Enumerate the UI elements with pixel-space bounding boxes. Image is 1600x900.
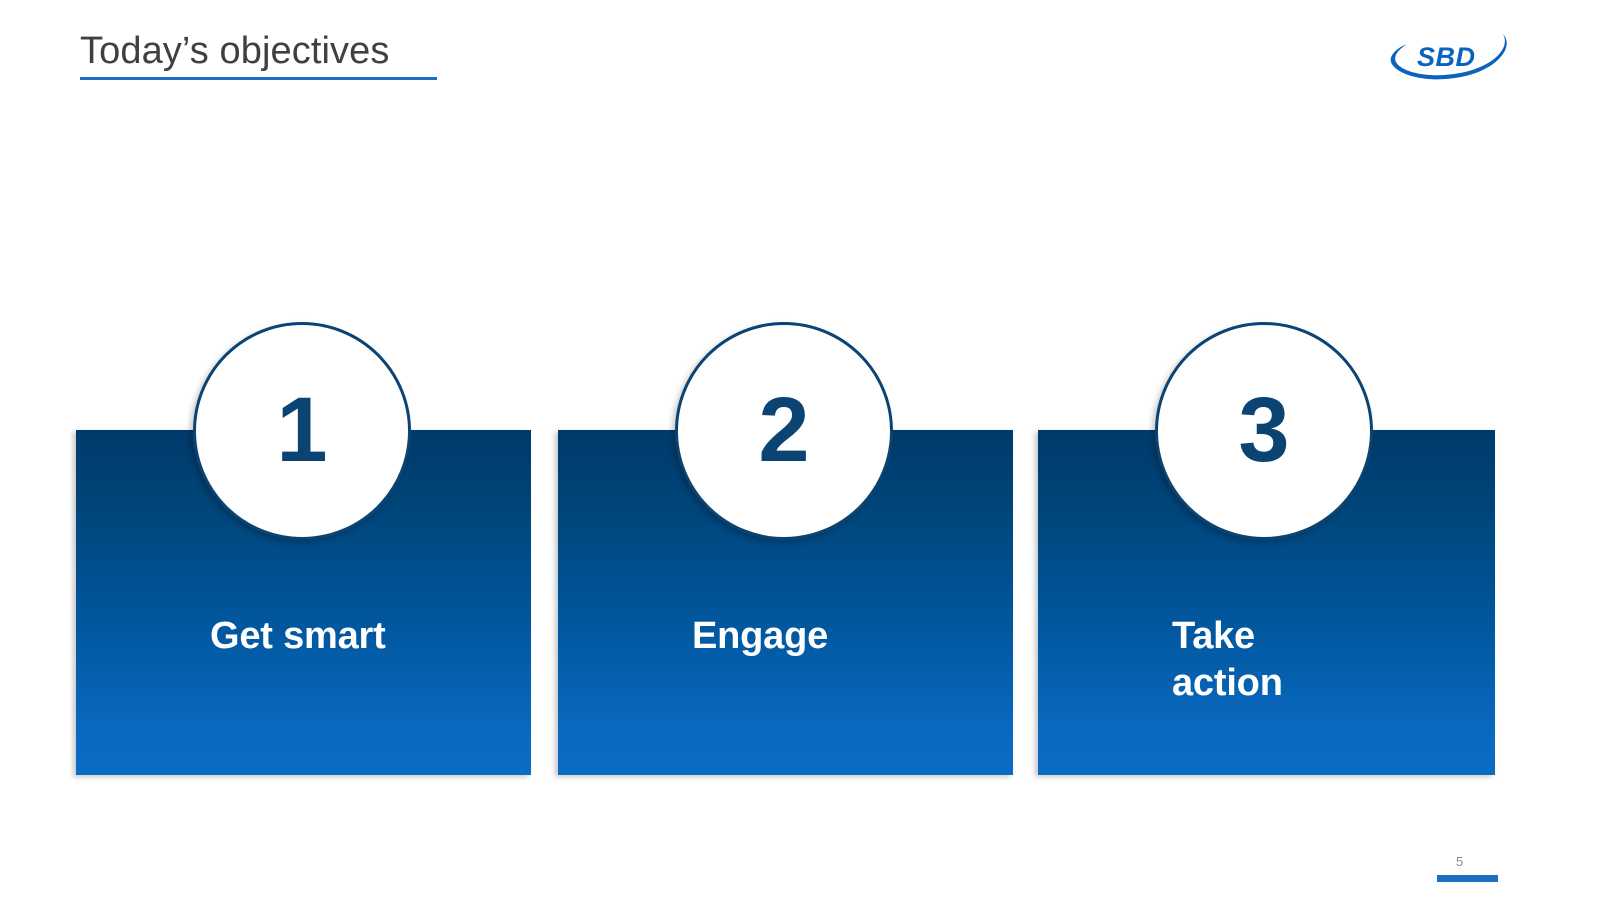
slide-canvas: Today’s objectives SBD Get smart Engage … bbox=[0, 0, 1600, 900]
sbd-logo-text: SBD bbox=[1417, 42, 1476, 72]
objective-number-circle-2[interactable]: 2 bbox=[675, 322, 893, 540]
page-title: Today’s objectives bbox=[80, 30, 720, 74]
objective-number-3: 3 bbox=[1238, 384, 1289, 476]
title-block: Today’s objectives bbox=[80, 30, 720, 80]
sbd-logo: SBD bbox=[1387, 26, 1512, 88]
objective-number-circle-3[interactable]: 3 bbox=[1155, 322, 1373, 540]
objective-label-2: Engage bbox=[692, 613, 872, 660]
objective-number-1: 1 bbox=[276, 384, 327, 476]
objective-number-2: 2 bbox=[758, 384, 809, 476]
objective-number-circle-1[interactable]: 1 bbox=[193, 322, 411, 540]
page-number-accent-bar bbox=[1437, 875, 1498, 882]
objective-label-1: Get smart bbox=[210, 613, 390, 660]
page-number: 5 bbox=[1456, 854, 1463, 869]
title-underline-rule bbox=[80, 77, 437, 80]
objective-label-3: Take action bbox=[1172, 613, 1352, 707]
